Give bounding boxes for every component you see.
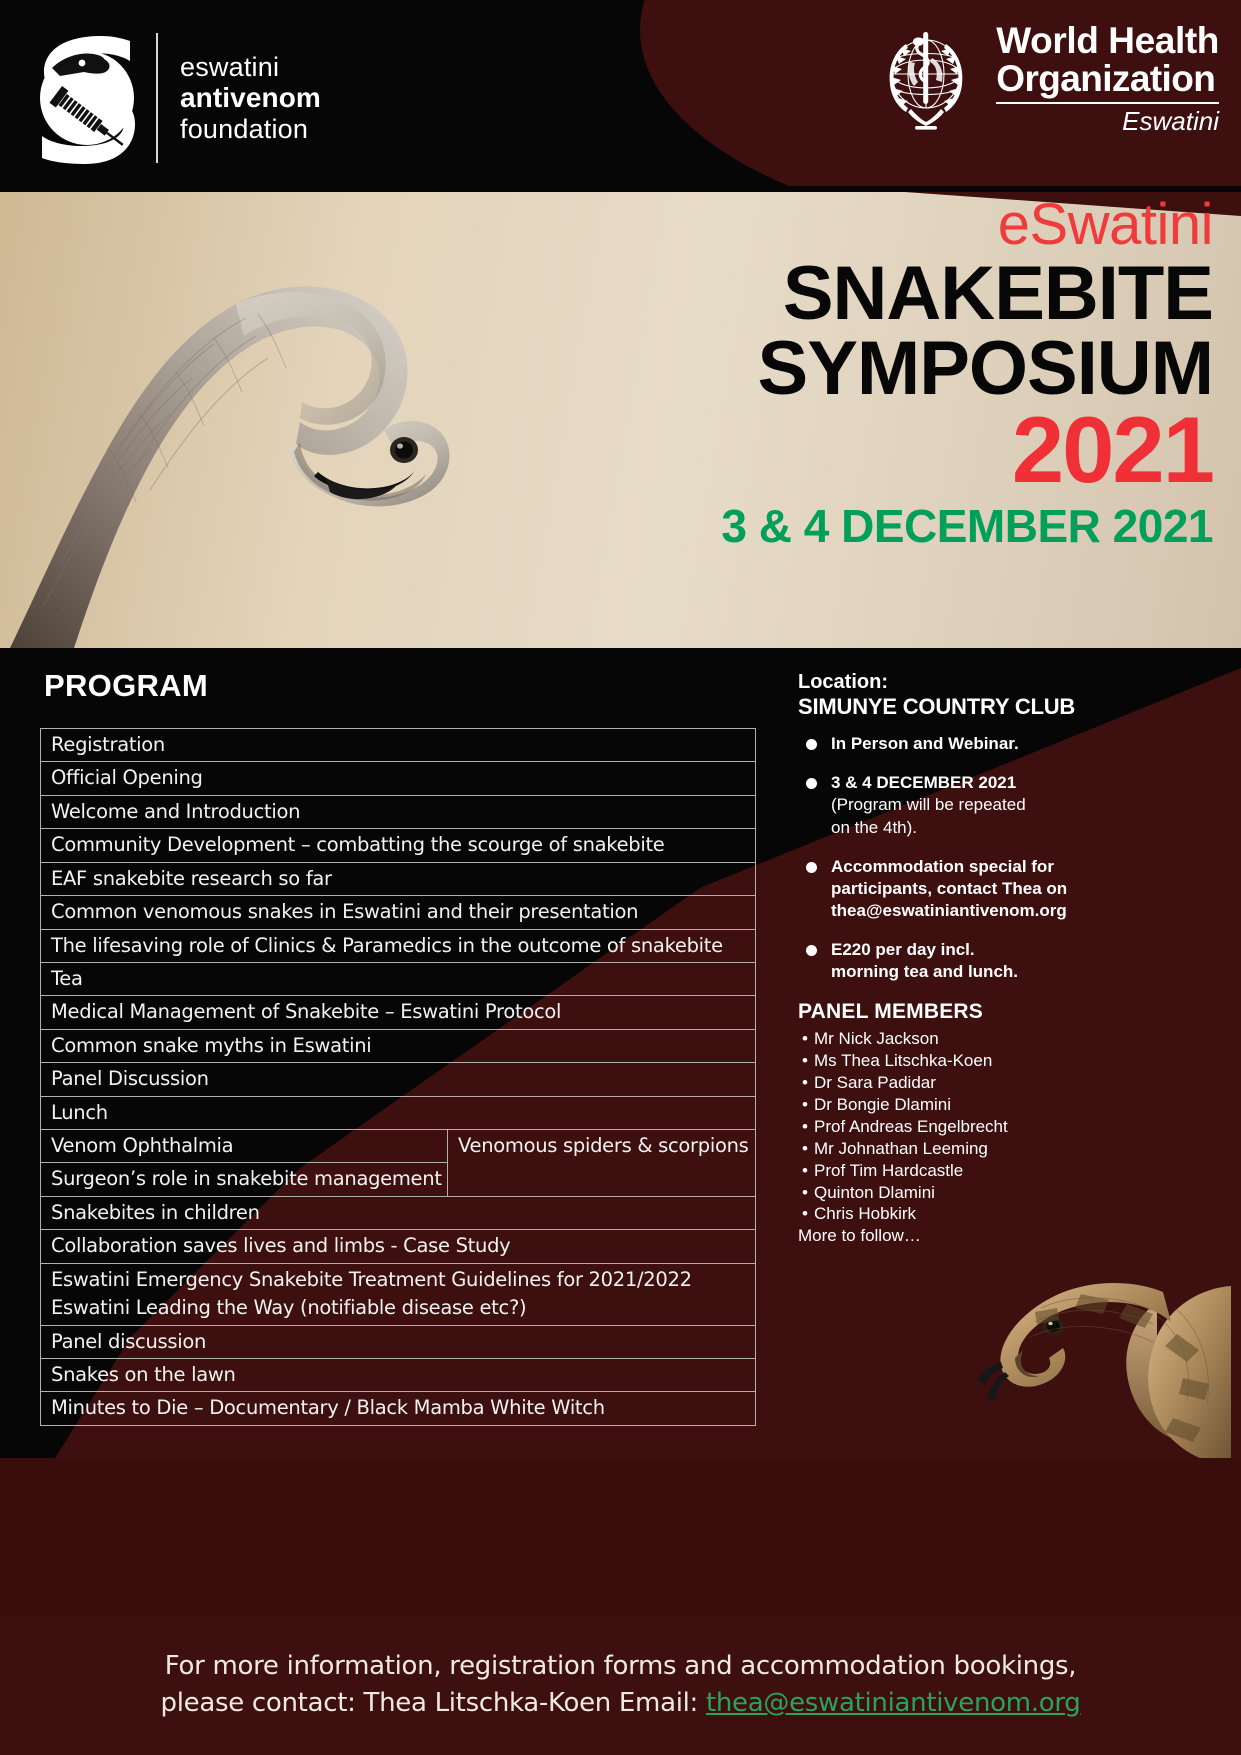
bullet-text: E220 per day incl.morning tea and lunch. [831,939,1018,983]
hero-year: 2021 [721,404,1213,496]
bullet-bold-text: 3 & 4 DECEMBER 2021 [831,773,1016,792]
list-item: •Quinton Dlamini [798,1182,1218,1204]
program-item: Panel Discussion [41,1063,755,1095]
table-row: Common snake myths in Eswatini [41,1030,755,1063]
bullet-marker-icon: • [798,1094,814,1116]
program-item: Official Opening [41,762,755,794]
panel-members-title: PANEL MEMBERS [798,1000,1218,1024]
hero-title-line-1: SNAKEBITE [721,256,1213,331]
footer-line-1: For more information, registration forms… [165,1648,1076,1685]
table-row: Medical Management of Snakebite – Eswati… [41,996,755,1029]
table-row: EAF snakebite research so far [41,863,755,896]
who-underline [996,102,1219,104]
program-table: RegistrationOfficial OpeningWelcome and … [40,728,756,1426]
poster-root: eswatini antivenom foundation [0,0,1241,1755]
hero-text-block: eSwatini SNAKEBITE SYMPOSIUM 2021 3 & 4 … [721,196,1213,549]
eaf-line-3: foundation [180,114,321,145]
eaf-line-2: antivenom [180,82,321,114]
bullet-dot-icon [806,778,817,789]
bullet-marker-icon: • [798,1203,814,1225]
location-name: SIMUNYE COUNTRY CLUB [798,694,1218,721]
bullet-marker-icon: • [798,1182,814,1204]
program-item: Medical Management of Snakebite – Eswati… [41,996,755,1028]
program-item: Eswatini Emergency Snakebite Treatment G… [51,1269,755,1291]
bullet-text: In Person and Webinar. [831,733,1019,755]
program-item: Panel discussion [41,1326,755,1358]
list-item: In Person and Webinar. [798,733,1218,755]
info-bullet-list: In Person and Webinar.3 & 4 DECEMBER 202… [798,733,1218,983]
program-item: Surgeon’s role in snakebite management [41,1163,447,1195]
program-item: Snakes on the lawn [41,1359,755,1391]
table-cell-right: Venomous spiders & scorpions [448,1130,755,1196]
table-row: Official Opening [41,762,755,795]
snake-syringe-s-logo-icon [38,32,136,164]
table-row: The lifesaving role of Clinics & Paramed… [41,930,755,963]
bullet-text: 3 & 4 DECEMBER 2021(Program will be repe… [831,772,1026,838]
table-cell-left: Venom OphthalmiaSurgeon’s role in snakeb… [41,1130,448,1196]
info-column: Location: SIMUNYE COUNTRY CLUB In Person… [798,670,1218,1247]
program-item: EAF snakebite research so far [41,863,755,895]
who-emblem-icon [870,22,982,145]
table-row: Venom OphthalmiaSurgeon’s role in snakeb… [41,1130,755,1197]
poster-footer: For more information, registration forms… [0,1615,1241,1755]
bullet-marker-icon: • [798,1138,814,1160]
who-line-2: Organization [996,60,1219,98]
table-row: Snakebites in children [41,1197,755,1230]
table-row: Tea [41,963,755,996]
program-item: Venomous spiders & scorpions [448,1130,749,1162]
table-row: Registration [41,729,755,762]
panel-member-name: Quinton Dlamini [814,1182,935,1204]
list-item: •Prof Andreas Engelbrecht [798,1116,1218,1138]
eaf-wordmark: eswatini antivenom foundation [180,52,321,145]
table-row: Collaboration saves lives and limbs - Ca… [41,1230,755,1263]
panel-member-name: Ms Thea Litschka-Koen [814,1050,992,1072]
list-item: •Mr Nick Jackson [798,1028,1218,1050]
panel-member-name: Prof Andreas Engelbrecht [814,1116,1008,1138]
program-item: Snakebites in children [41,1197,755,1229]
list-item: •Prof Tim Hardcastle [798,1160,1218,1182]
bullet-marker-icon: • [798,1116,814,1138]
footer-contact-prefix: please contact: Thea Litschka-Koen Email… [161,1688,706,1718]
hero-title-line-2: SYMPOSIUM [721,331,1213,406]
program-item: Venom Ophthalmia [41,1130,447,1163]
who-logo: World Health Organization Eswatini [870,22,1219,145]
program-item: Registration [41,729,755,761]
bullet-marker-icon: • [798,1050,814,1072]
hero-banner: eSwatini SNAKEBITE SYMPOSIUM 2021 3 & 4 … [0,186,1241,648]
poster-header: eswatini antivenom foundation [0,0,1241,186]
panel-member-name: Dr Sara Padidar [814,1072,936,1094]
eaf-line-1: eswatini [180,52,321,83]
footer-line-2: please contact: Thea Litschka-Koen Email… [161,1685,1081,1722]
table-row: Welcome and Introduction [41,796,755,829]
panel-member-name: Prof Tim Hardcastle [814,1160,963,1182]
black-mamba-photo [0,186,520,648]
list-item: •Chris Hobkirk [798,1203,1218,1225]
program-item: Lunch [41,1097,755,1129]
table-row: Panel discussion [41,1326,755,1359]
panel-member-name: Chris Hobkirk [814,1203,916,1225]
bullet-marker-icon: • [798,1028,814,1050]
bullet-bold-text: In Person and Webinar. [831,734,1019,753]
location-label: Location: [798,670,1218,694]
program-item: Tea [41,963,755,995]
logo-divider [156,33,158,163]
table-row: Common venomous snakes in Eswatini and t… [41,896,755,929]
program-item: Common venomous snakes in Eswatini and t… [41,896,755,928]
bullet-bold-text: Accommodation special forparticipants, c… [831,857,1067,920]
bullet-dot-icon [806,739,817,750]
table-row: Community Development – combatting the s… [41,829,755,862]
list-item: Accommodation special forparticipants, c… [798,856,1218,922]
program-item: Collaboration saves lives and limbs - Ca… [41,1230,755,1262]
more-to-follow-text: More to follow… [798,1225,1218,1247]
panel-member-name: Dr Bongie Dlamini [814,1094,951,1116]
program-item: Eswatini Leading the Way (notifiable dis… [51,1297,755,1319]
list-item: •Mr Johnathan Leeming [798,1138,1218,1160]
bullet-dot-icon [806,945,817,956]
panel-members-list: •Mr Nick Jackson•Ms Thea Litschka-Koen•D… [798,1028,1218,1225]
program-item: Welcome and Introduction [41,796,755,828]
program-item: Minutes to Die – Documentary / Black Mam… [41,1392,755,1424]
list-item: 3 & 4 DECEMBER 2021(Program will be repe… [798,772,1218,838]
hero-date: 3 & 4 DECEMBER 2021 [721,503,1213,549]
eaf-logo: eswatini antivenom foundation [38,32,321,164]
bullet-regular-text: (Program will be repeatedon the 4th). [831,795,1026,836]
panel-member-name: Mr Nick Jackson [814,1028,939,1050]
who-wordmark: World Health Organization Eswatini [996,22,1219,136]
list-item: •Ms Thea Litschka-Koen [798,1050,1218,1072]
bullet-bold-text: E220 per day incl.morning tea and lunch. [831,940,1018,981]
who-line-1: World Health [996,22,1219,60]
panel-member-name: Mr Johnathan Leeming [814,1138,988,1160]
bullet-marker-icon: • [798,1160,814,1182]
body-zone: PROGRAM RegistrationOfficial OpeningWelc… [0,648,1241,1458]
bullet-dot-icon [806,862,817,873]
table-row: Panel Discussion [41,1063,755,1096]
footer-email-link[interactable]: thea@eswatiniantivenom.org [706,1688,1081,1718]
bullet-marker-icon: • [798,1072,814,1094]
hero-eyebrow: eSwatini [721,196,1213,254]
table-row: Snakes on the lawn [41,1359,755,1392]
list-item: •Dr Bongie Dlamini [798,1094,1218,1116]
table-row: Eswatini Emergency Snakebite Treatment G… [41,1264,755,1326]
bullet-text: Accommodation special forparticipants, c… [831,856,1067,922]
program-item: Community Development – combatting the s… [41,829,755,861]
list-item: E220 per day incl.morning tea and lunch. [798,939,1218,983]
table-row: Lunch [41,1097,755,1130]
page-title: PROGRAM [44,668,208,704]
program-item: The lifesaving role of Clinics & Paramed… [41,930,755,962]
table-cell: Eswatini Emergency Snakebite Treatment G… [41,1264,755,1325]
list-item: •Dr Sara Padidar [798,1072,1218,1094]
table-row: Minutes to Die – Documentary / Black Mam… [41,1392,755,1425]
program-item: Common snake myths in Eswatini [41,1030,755,1062]
who-line-3: Eswatini [996,107,1219,136]
